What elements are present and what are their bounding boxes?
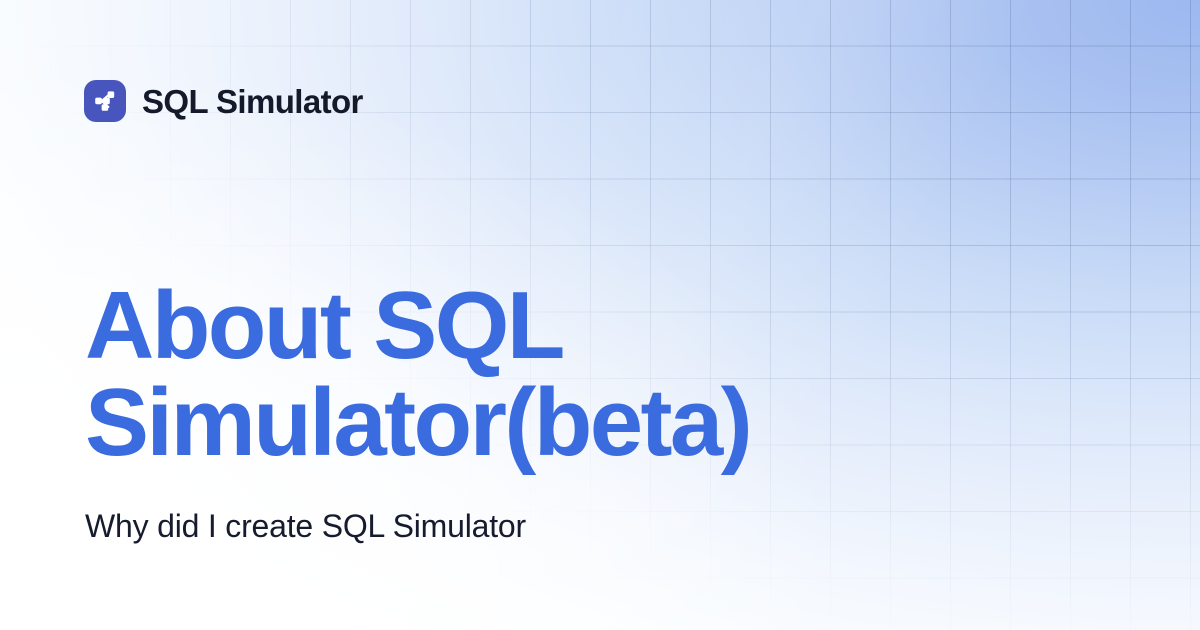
brand-name: SQL Simulator (142, 85, 363, 118)
node-graph-icon (92, 88, 118, 114)
page-title: About SQL Simulator(beta) (85, 278, 845, 472)
og-card: SQL Simulator About SQL Simulator(beta) … (0, 0, 1200, 630)
brand-lockup[interactable]: SQL Simulator (84, 80, 363, 122)
page-subtitle: Why did I create SQL Simulator (85, 472, 1105, 546)
hero-section: About SQL Simulator(beta) Why did I crea… (85, 278, 1105, 546)
app-logo-badge (84, 80, 126, 122)
